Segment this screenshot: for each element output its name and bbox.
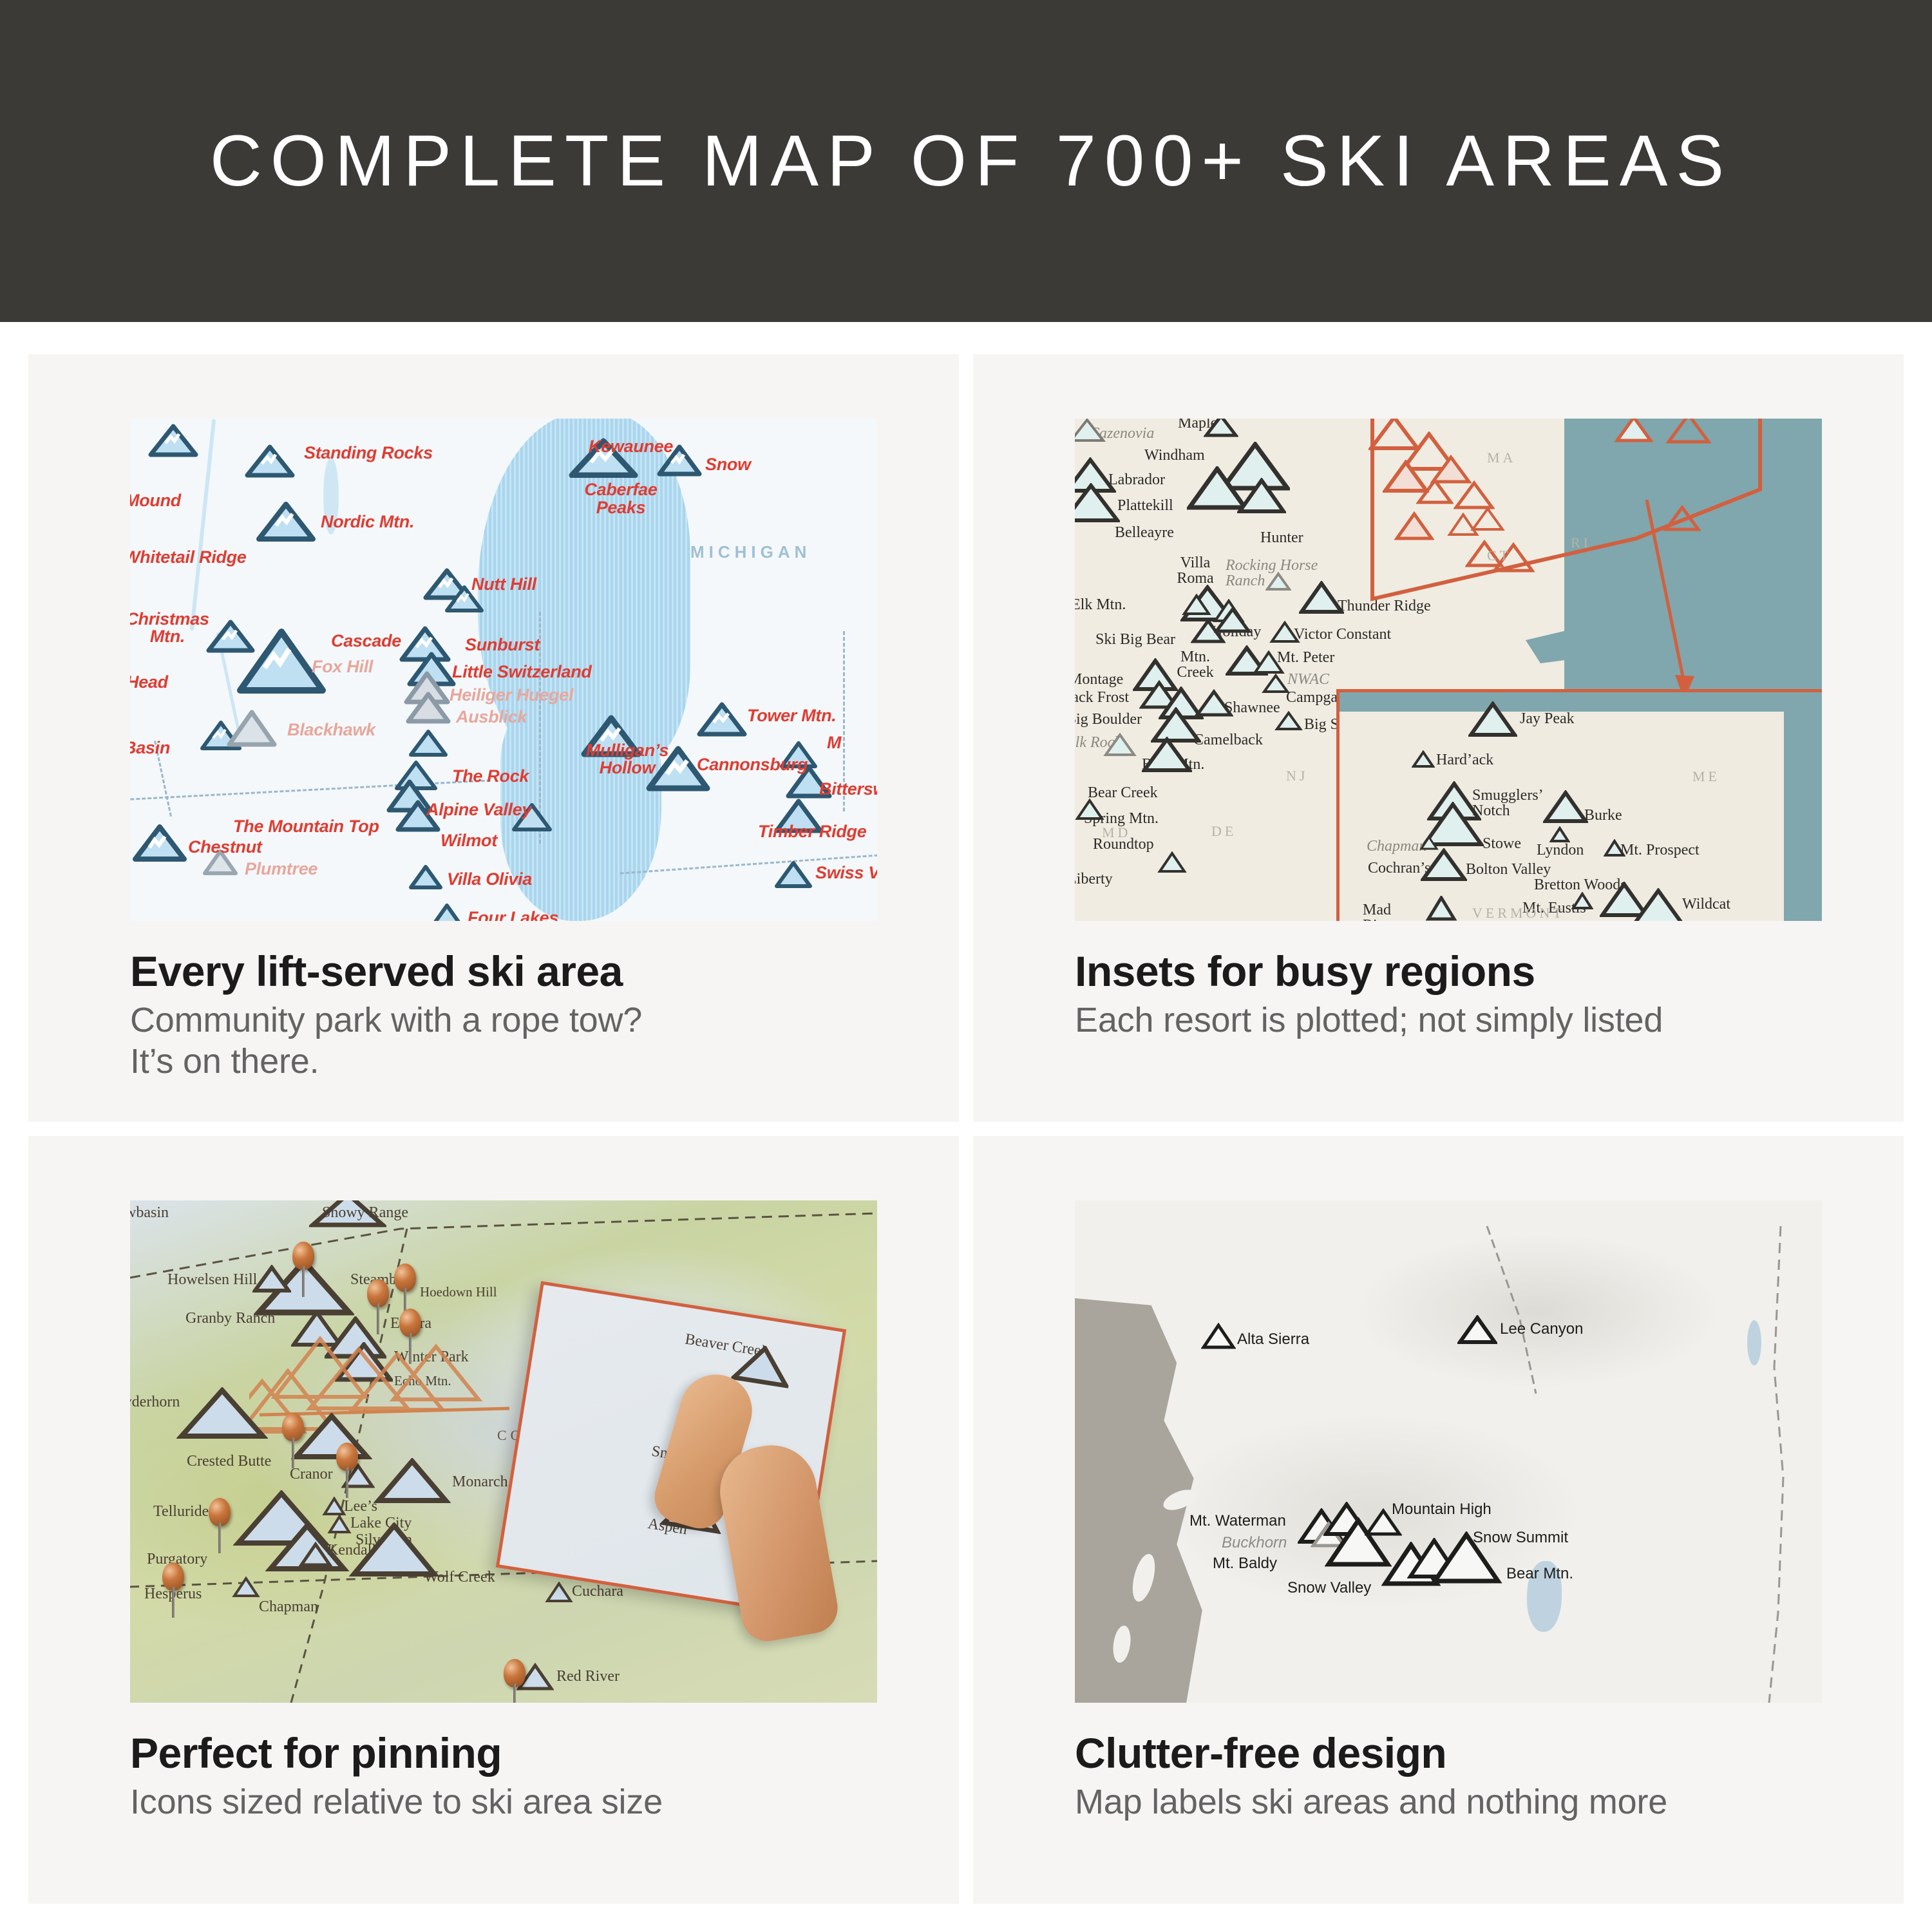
ski-label-muted: Buckhorn — [1222, 1534, 1287, 1552]
ski-label-muted: Heiliger Huegel — [450, 685, 573, 705]
mountain-icon — [1075, 419, 1106, 443]
mountain-icon — [1412, 750, 1435, 768]
ski-label: The Rock — [452, 766, 529, 786]
state-label: MA — [1487, 450, 1516, 466]
mountain-icon — [697, 702, 747, 737]
map-pin[interactable] — [162, 1562, 184, 1591]
ski-label: Head — [130, 672, 168, 692]
ski-label: Powderhorn — [130, 1394, 180, 1411]
ski-label: Telluride — [153, 1503, 209, 1520]
mountain-icon — [1262, 674, 1290, 694]
state-label: RI — [1571, 535, 1591, 551]
state-label: CT — [1487, 547, 1511, 564]
ski-label: Mountain High — [1392, 1501, 1492, 1519]
mountain-icon — [408, 864, 443, 890]
mountain-icon — [1214, 607, 1251, 634]
state-border-dashed — [1075, 1200, 1822, 1703]
feature-card-insets-for-busy-regions[interactable]: Cazenovia Maple Windham Labrador Plattek… — [973, 354, 1904, 1122]
ski-label: Smugglers’ Notch — [1472, 788, 1537, 819]
map-pin[interactable] — [336, 1443, 358, 1471]
mountain-icon — [1299, 581, 1344, 614]
map-thumbnail-northeast[interactable]: Cazenovia Maple Windham Labrador Plattek… — [1075, 419, 1822, 921]
ski-label: Mt. Waterman — [1189, 1512, 1286, 1530]
mountain-icon — [1237, 478, 1286, 514]
ski-label: Mound — [130, 491, 181, 511]
ski-label: Stowe — [1482, 835, 1521, 853]
ski-label: Jay Peak — [1520, 710, 1575, 728]
mountain-icon — [1571, 892, 1593, 910]
ski-label: Belleayre — [1115, 524, 1174, 542]
card-title: Perfect for pinning — [130, 1731, 959, 1776]
card-subtitle-line2: It’s on there. — [130, 1042, 319, 1081]
southern-california-ski-areas-map: Alta Sierra Lee Canyon Mt. Waterman Moun… — [1075, 1200, 1822, 1703]
ski-label: Alta Sierra — [1237, 1331, 1309, 1349]
ski-label: Windham — [1144, 447, 1205, 464]
ski-label: Little Switzerland — [452, 662, 592, 682]
state-label: NJ — [1286, 768, 1308, 784]
ski-label: Kewaunee — [589, 437, 673, 457]
card-caption: Perfect for pinning Icons sized relative… — [28, 1703, 959, 1823]
mountain-icon — [1274, 711, 1303, 732]
mountain-icon — [133, 824, 187, 862]
mountain-icon — [1253, 650, 1285, 675]
ski-label: Camelback — [1193, 732, 1263, 749]
mountain-icon — [1549, 826, 1570, 843]
mountain-icon — [176, 1387, 268, 1440]
ski-label: Lyndon — [1537, 842, 1584, 859]
ski-label: Snow Summit — [1473, 1529, 1568, 1547]
mountain-icon-muted — [1103, 733, 1137, 757]
ski-label: Crested Butte — [187, 1453, 271, 1470]
mountain-icon — [1269, 621, 1300, 644]
mountain-icon — [1457, 1315, 1497, 1345]
card-subtitle: Community park with a rope tow? It’s on … — [130, 1000, 959, 1082]
map-thumbnail-socal[interactable]: Alta Sierra Lee Canyon Mt. Waterman Moun… — [1075, 1200, 1822, 1703]
mountain-icon — [148, 424, 198, 457]
feature-card-grid: Standing Rocks Kewaunee Mound Caberfae P… — [0, 322, 1932, 1932]
state-label: MD — [1102, 824, 1131, 841]
mountain-icon — [1075, 799, 1104, 820]
ski-label: Nutt Hill — [471, 574, 536, 594]
ski-label: Swiss Valley — [815, 863, 877, 883]
ski-label: Mulligan’s Hollow — [576, 742, 679, 777]
ski-label: Mt. Peter — [1277, 649, 1334, 667]
mountain-icon — [245, 444, 295, 478]
mountain-icon — [291, 1413, 372, 1461]
ski-label: Mt. Baldy — [1213, 1555, 1277, 1573]
ski-label: Mt. Prospect — [1620, 842, 1700, 859]
feature-card-clutter-free-design[interactable]: Alta Sierra Lee Canyon Mt. Waterman Moun… — [973, 1136, 1904, 1904]
midwest-ski-areas-map: Standing Rocks Kewaunee Mound Caberfae P… — [130, 419, 877, 921]
mountain-icon — [232, 1577, 260, 1598]
ski-label: Bolton Valley — [1466, 861, 1551, 878]
state-label-michigan: MICHIGAN — [690, 542, 811, 562]
ski-label: Ski Big Bear — [1095, 631, 1175, 649]
ski-label-muted: Ausblick — [456, 707, 527, 727]
ski-label: M — [827, 733, 841, 753]
mountain-icon — [408, 729, 448, 757]
ski-label: Hoedown Hill — [420, 1284, 497, 1300]
ski-label: Timber Ridge — [758, 822, 866, 842]
ski-label: Hunter — [1260, 529, 1303, 547]
ski-label: Liberty — [1075, 871, 1113, 888]
ski-label: Cascade — [331, 631, 401, 651]
mountain-icon — [1631, 888, 1686, 921]
ski-label: Whitetail Ridge — [130, 547, 247, 567]
ski-label: Standing Rocks — [304, 443, 433, 463]
mountain-icon — [545, 1582, 573, 1604]
ski-label: Plattekill — [1117, 497, 1173, 515]
ski-label: Wolf Creek — [424, 1569, 495, 1586]
card-caption: Every lift-served ski area Community par… — [28, 921, 959, 1083]
ski-label: Tower Mtn. — [747, 706, 837, 726]
ski-label: Hard’ack — [1436, 752, 1493, 769]
map-pin[interactable] — [209, 1498, 231, 1526]
vermont-inset-panel[interactable]: Jay Peak Hard’ack Smugglers’ Notch Stowe… — [1336, 689, 1822, 921]
ski-label: Mtn. Creek — [1174, 649, 1217, 680]
card-subtitle-line1: Community park with a rope tow? — [130, 1001, 642, 1039]
card-subtitle: Icons sized relative to ski area size — [130, 1782, 959, 1823]
map-photo-colorado[interactable]: Snowy Range wbasin Howelsen Hill Steambo… — [130, 1200, 877, 1703]
ski-label-muted: NWAC — [1287, 671, 1329, 688]
ski-label: Howelsen Hill — [167, 1271, 257, 1289]
mountain-icon-muted — [227, 710, 277, 747]
card-title: Every lift-served ski area — [130, 949, 959, 994]
map-thumbnail-midwest[interactable]: Standing Rocks Kewaunee Mound Caberfae P… — [130, 419, 877, 921]
mountain-icon-muted — [406, 692, 451, 724]
page-title: COMPLETE MAP OF 700+ SKI AREAS — [200, 125, 1732, 197]
mountain-icon — [774, 860, 813, 889]
ski-label: Four Lakes — [468, 908, 558, 921]
ski-label: Christmas Mtn. — [130, 611, 213, 645]
ski-label: Granby Ranch — [185, 1310, 275, 1327]
ski-label-muted: Plumtree — [245, 859, 317, 879]
ski-label: Montage — [1075, 671, 1123, 688]
ski-label: Mad River Glen — [1363, 902, 1427, 921]
ski-label: Villa Roma — [1173, 555, 1218, 586]
ski-label: The Mountain Top — [233, 817, 379, 837]
ski-label: Bittersweet — [819, 779, 877, 799]
ski-label: Cannonsburg — [697, 755, 808, 775]
ski-label: Wildcat — [1682, 896, 1730, 913]
ski-label: Cranor — [290, 1466, 333, 1483]
ski-label: Villa Olivia — [447, 869, 532, 889]
mountain-icon — [1543, 790, 1588, 824]
map-pin[interactable] — [399, 1309, 421, 1337]
mountain-icon — [429, 903, 465, 921]
ski-label: Red River — [556, 1668, 620, 1685]
state-label: VERMONT — [1472, 905, 1565, 921]
mountain-icon-muted — [1265, 572, 1291, 591]
mountain-icon — [1182, 594, 1211, 616]
ski-label-muted: Chapman — [1367, 838, 1426, 855]
map-pin[interactable] — [504, 1659, 526, 1687]
ski-label: Chestnut — [188, 837, 262, 857]
ski-label: Snow Valley — [1287, 1579, 1371, 1597]
mountain-icon — [1075, 483, 1120, 523]
mountain-icon — [1157, 851, 1187, 873]
northeast-ski-areas-map: Cazenovia Maple Windham Labrador Plattek… — [1075, 419, 1822, 921]
ski-label: Bear Mtn. — [1506, 1565, 1573, 1583]
map-pin[interactable] — [394, 1264, 416, 1292]
card-caption: Insets for busy regions Each resort is p… — [973, 921, 1904, 1041]
card-subtitle: Each resort is plotted; not simply liste… — [1075, 1000, 1904, 1041]
mountain-icon — [1468, 701, 1517, 737]
card-caption: Clutter-free design Map labels ski areas… — [973, 1703, 1904, 1823]
ski-label: wbasin — [130, 1204, 169, 1222]
ski-label: Jack Frost — [1075, 689, 1129, 706]
mountain-icon — [1421, 848, 1467, 882]
ski-label-muted: Blackhawk — [287, 720, 375, 740]
card-title: Insets for busy regions — [1075, 949, 1904, 994]
ski-label: Monarch — [452, 1473, 508, 1491]
feature-card-perfect-for-pinning[interactable]: Snowy Range wbasin Howelsen Hill Steambo… — [28, 1136, 959, 1904]
ski-label: Lee Canyon — [1500, 1320, 1583, 1338]
ski-label: Snowy Range — [322, 1204, 408, 1222]
card-title: Clutter-free design — [1075, 1731, 1904, 1776]
map-pin[interactable] — [282, 1413, 304, 1441]
mountain-icon — [1142, 737, 1192, 773]
inset-callout-arrow — [1642, 496, 1719, 708]
ski-label: Big Boulder — [1075, 711, 1142, 728]
map-pin[interactable] — [292, 1242, 314, 1270]
ski-label: Sunburst — [465, 635, 540, 655]
map-pin[interactable] — [367, 1279, 389, 1307]
mountain-icon — [731, 1341, 794, 1388]
ski-label: Snow — [705, 455, 751, 475]
mountain-icon — [1426, 896, 1457, 921]
mountain-icon — [322, 1497, 346, 1516]
ski-label-muted: Fox Hill — [312, 657, 373, 677]
page-header: COMPLETE MAP OF 700+ SKI AREAS — [0, 0, 1932, 322]
mountain-icon — [252, 1265, 291, 1293]
ski-label: Elk Mtn. — [1075, 596, 1126, 614]
page-root: COMPLETE MAP OF 700+ SKI AREAS — [0, 0, 1932, 1932]
state-label: ME — [1692, 768, 1720, 785]
mountain-icon — [1201, 1323, 1236, 1350]
colorado-ski-areas-photo: Snowy Range wbasin Howelsen Hill Steambo… — [130, 1200, 877, 1703]
ski-label: Alpine Valley — [426, 800, 531, 820]
state-label: DE — [1211, 823, 1236, 840]
ski-label: Chapman — [259, 1598, 318, 1616]
card-subtitle: Map labels ski areas and nothing more — [1075, 1782, 1904, 1823]
mountain-icon — [256, 501, 316, 542]
mountain-icon — [374, 1458, 451, 1504]
ski-label: Nordic Mtn. — [321, 512, 414, 532]
ski-label: Lee’s — [344, 1498, 377, 1515]
ski-label: Burke — [1584, 807, 1622, 824]
mountain-icon — [1204, 419, 1238, 438]
feature-card-every-lift-served[interactable]: Standing Rocks Kewaunee Mound Caberfae P… — [28, 354, 959, 1122]
ski-label: Wilmot — [440, 831, 497, 851]
ski-label: Caberfae Peaks — [569, 480, 672, 517]
ski-label: Basin — [130, 738, 170, 758]
